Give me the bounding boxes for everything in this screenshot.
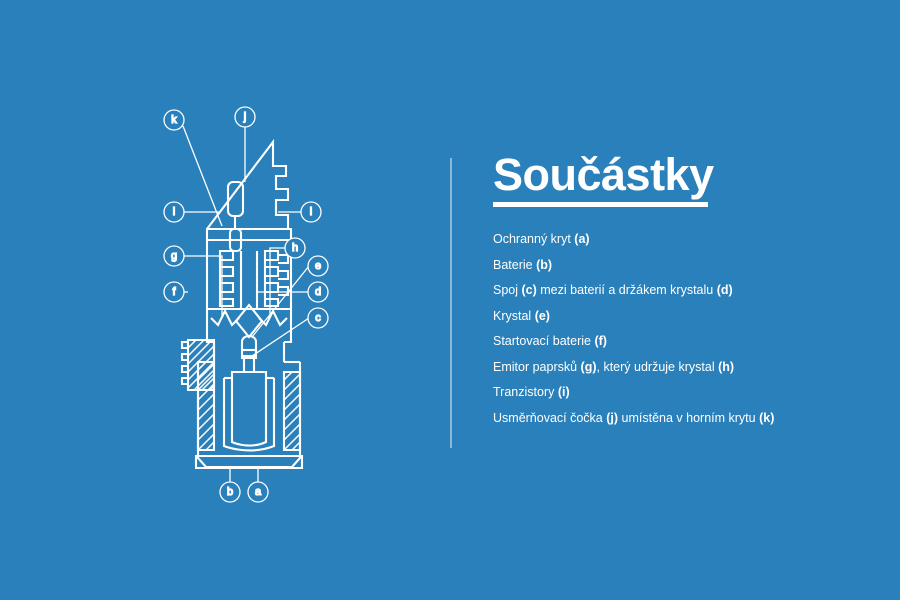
callout-d[interactable]: d	[308, 282, 328, 302]
transistor-block-group	[207, 240, 291, 309]
cap-base-plate	[207, 229, 291, 240]
callout-g[interactable]: g	[164, 246, 184, 266]
emitter-coil-left	[211, 311, 239, 325]
list-item-text: Usměrňovací čočka (j) umístěna v horním …	[493, 411, 774, 425]
list-item-text: Baterie (b)	[493, 258, 552, 272]
callout-i-right[interactable]: i	[301, 202, 321, 222]
components-legend-panel: Součástky Ochranný kryt (a) Baterie (b) …	[493, 152, 863, 424]
starter-battery-hatching	[188, 340, 214, 390]
battery-inner-cell	[232, 372, 266, 446]
callout-f[interactable]: f	[164, 282, 184, 302]
main-battery-group	[196, 362, 302, 468]
transistor-right	[265, 251, 278, 306]
transistor-terminal-b	[278, 271, 288, 279]
list-item-text: Emitor paprsků (g), který udržuje krysta…	[493, 360, 734, 374]
callout-j[interactable]: j	[235, 107, 255, 127]
shoulder-left	[207, 309, 214, 342]
callout-h[interactable]: h	[285, 238, 305, 258]
callout-i-right-label: i	[310, 206, 312, 218]
list-item: Ochranný kryt (a)	[493, 233, 863, 246]
callout-c[interactable]: c	[308, 308, 328, 328]
emitter-crystal-group	[207, 305, 291, 362]
list-item-text: Tranzistory (i)	[493, 385, 570, 399]
battery-wall-right-hatching	[284, 372, 300, 450]
callout-h-label: h	[292, 242, 298, 254]
list-item: Tranzistory (i)	[493, 386, 863, 399]
callout-k[interactable]: k	[164, 110, 184, 130]
callout-e-label: e	[315, 260, 321, 272]
list-item-text: Spoj (c) mezi baterií a držákem krystalu…	[493, 283, 733, 297]
callout-j-label: j	[243, 111, 246, 123]
device-cross-section-diagram: k j i i g	[110, 90, 410, 520]
callout-i-left[interactable]: i	[164, 202, 184, 222]
transistor-terminal-a	[278, 255, 288, 263]
diagram-svg: k j i i g	[110, 90, 410, 520]
page-title: Součástky	[493, 152, 863, 197]
list-item: Krystal (e)	[493, 310, 863, 323]
callout-bubbles: k j i i g	[164, 107, 328, 502]
callout-b[interactable]: b	[220, 482, 240, 502]
top-shell-outline	[207, 142, 288, 229]
leader-e	[252, 266, 309, 337]
callout-e[interactable]: e	[308, 256, 328, 276]
list-item: Emitor paprsků (g), který udržuje krysta…	[493, 361, 863, 374]
list-item: Spoj (c) mezi baterií a držákem krystalu…	[493, 284, 863, 297]
callout-g-label: g	[171, 250, 177, 262]
leader-k	[183, 126, 222, 226]
callout-k-label: k	[171, 114, 177, 126]
list-item-text: Krystal (e)	[493, 309, 550, 323]
components-list: Ochranný kryt (a) Baterie (b) Spoj (c) m…	[493, 233, 863, 424]
list-item-text: Startovací baterie (f)	[493, 334, 607, 348]
callout-i-left-label: i	[173, 206, 175, 218]
title-underline-rule	[493, 202, 708, 207]
list-item: Startovací baterie (f)	[493, 335, 863, 348]
callout-a[interactable]: a	[248, 482, 268, 502]
callout-a-label: a	[255, 486, 262, 498]
infographic-canvas: k j i i g	[0, 0, 900, 600]
vertical-divider	[450, 158, 452, 448]
callout-b-label: b	[227, 486, 233, 498]
callout-d-label: d	[315, 286, 321, 298]
list-item: Usměrňovací čočka (j) umístěna v horním …	[493, 412, 863, 425]
list-item: Baterie (b)	[493, 259, 863, 272]
top-housing-group	[207, 142, 291, 251]
list-item-text: Ochranný kryt (a)	[493, 232, 590, 246]
shoulder-right	[284, 309, 291, 342]
connector-neck	[244, 358, 254, 372]
callout-c-label: c	[315, 312, 321, 324]
